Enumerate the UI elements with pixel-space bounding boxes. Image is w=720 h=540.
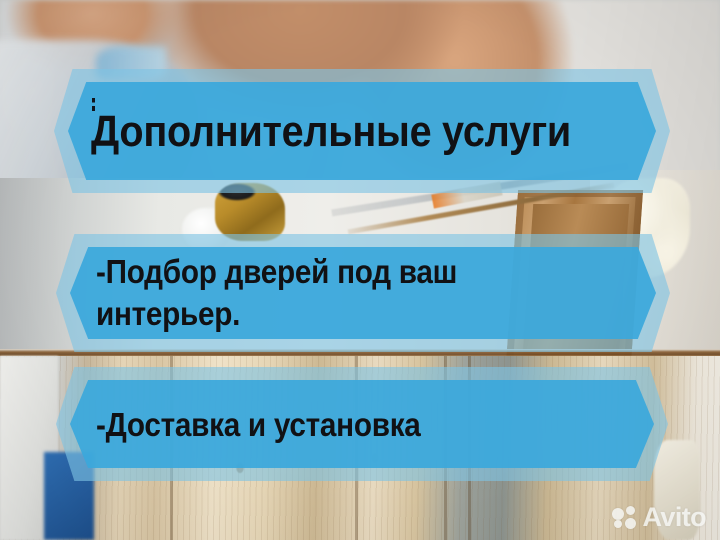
avito-logo-icon — [612, 506, 638, 530]
service-banner-1: -Подбор дверей под ваш интерьер. — [56, 234, 670, 352]
avito-watermark: Avito — [612, 504, 707, 531]
service-text-1: -Подбор дверей под ваш интерьер. — [96, 251, 457, 335]
service-banner-2: -Доставка и установка — [56, 367, 668, 481]
ad-image-canvas: Дополнительные услуги -Подбор дверей под… — [0, 0, 720, 540]
avito-wordmark: Avito — [643, 504, 707, 531]
heading-banner: Дополнительные услуги — [54, 69, 670, 193]
heading-text: Дополнительные услуги — [91, 108, 571, 156]
service-text-2: -Доставка и установка — [96, 405, 421, 445]
colon-artifact — [92, 98, 95, 111]
